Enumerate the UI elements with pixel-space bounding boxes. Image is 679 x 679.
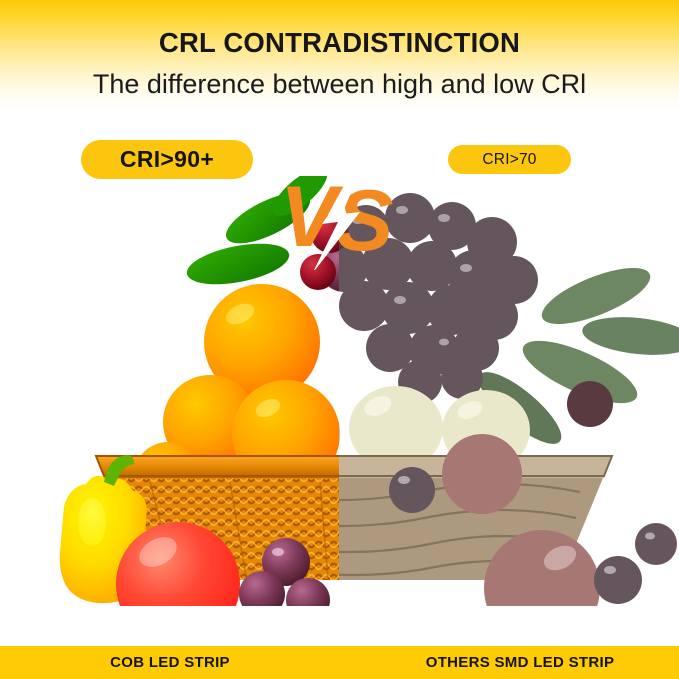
- badge-high-cri: CRI>90+: [81, 140, 253, 179]
- footer-label-other: OTHERS SMD LED STRIP: [370, 646, 670, 679]
- promo-image: CRL CONTRADISTINCTION The difference bet…: [0, 0, 679, 679]
- badge-low-cri: CRI>70: [448, 145, 571, 174]
- footer-bar: COB LED STRIP OTHERS SMD LED STRIP: [0, 646, 679, 679]
- footer-label-cob: COB LED STRIP: [20, 646, 320, 679]
- page-title: CRL CONTRADISTINCTION: [0, 26, 679, 60]
- page-subtitle: The difference between high and low CRl: [0, 66, 679, 102]
- versus-graphic: V S: [282, 166, 404, 270]
